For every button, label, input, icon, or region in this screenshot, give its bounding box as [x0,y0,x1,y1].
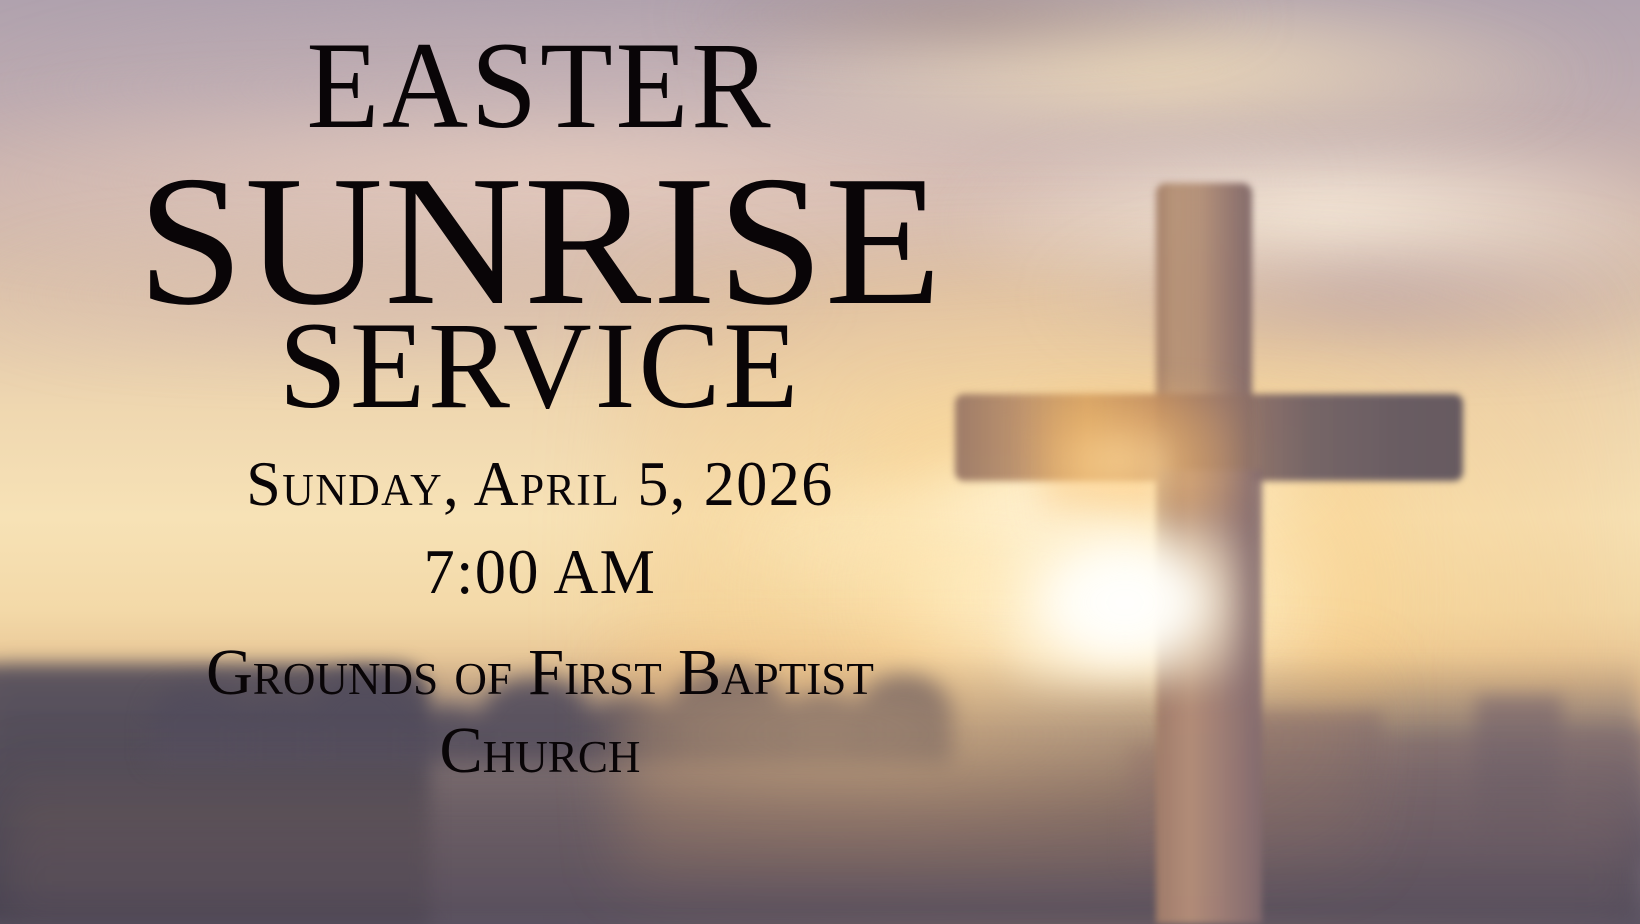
headline-line-easter: EASTER [22,24,1059,148]
poster-text-block: EASTER SUNRISE SERVICE Sunday, April 5, … [0,0,1080,924]
headline-line-service: SERVICE [5,304,1074,428]
event-date: Sunday, April 5, 2026 [16,452,1064,516]
event-venue-line-1: Grounds of First Baptist [11,640,1069,706]
event-venue-line-2: Church [11,718,1069,784]
event-time: 7:00 AM [16,540,1064,604]
easter-sunrise-service-poster: EASTER SUNRISE SERVICE Sunday, April 5, … [0,0,1640,924]
